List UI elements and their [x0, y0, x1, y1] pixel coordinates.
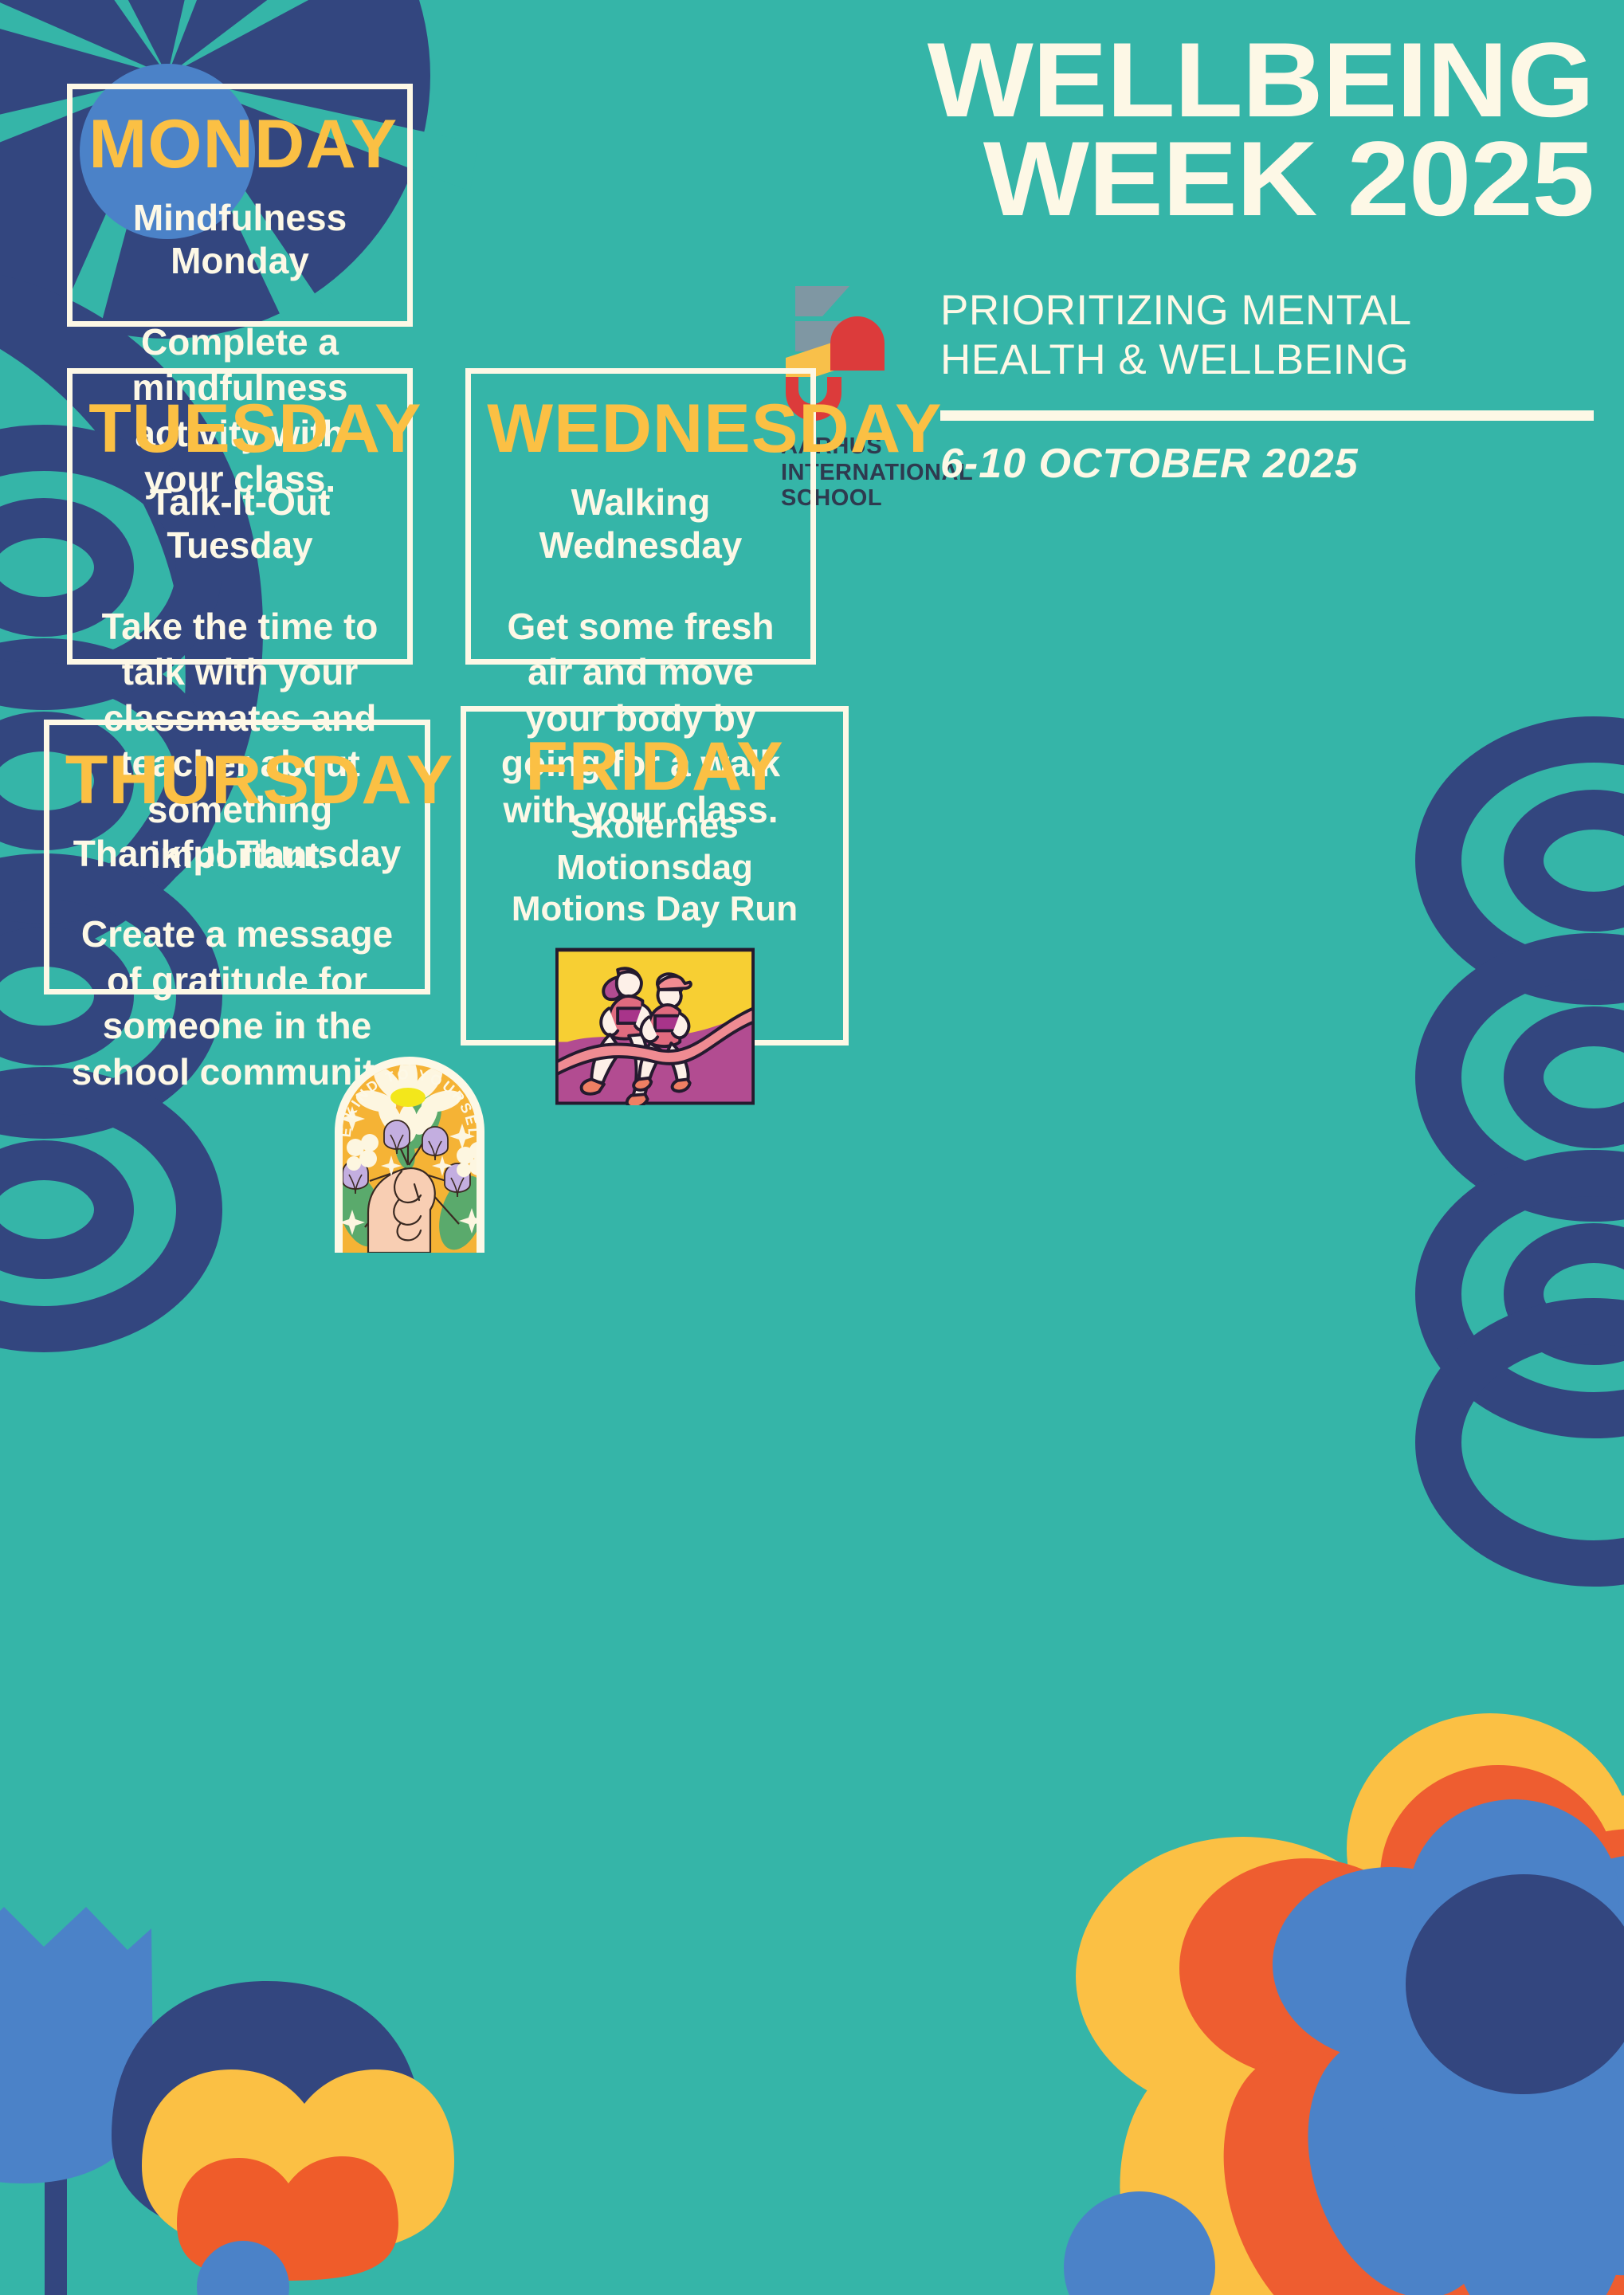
day-title-monday: MONDAY — [88, 110, 390, 178]
runners-illustration — [555, 947, 755, 1105]
be-kind-badge: BE KIND TO YOURSELF — [328, 1044, 490, 1253]
day-subtitle-thursday: Thankful Thursday — [69, 832, 406, 875]
day-subtitle-friday: Skolernes Motionsdag Motions Day Run — [485, 806, 824, 930]
day-title-tuesday: TUESDAY — [88, 394, 390, 463]
poster-tagline: PRIORITIZING MENTAL HEALTH & WELLBEING — [940, 286, 1594, 385]
day-card-wednesday: WEDNESDAY Walking Wednesday Get some fre… — [465, 368, 816, 665]
header-divider — [940, 410, 1594, 421]
page-title: WELLBEING WEEK 2025 — [732, 32, 1594, 229]
day-card-monday: MONDAY Mindfulness Monday Complete a min… — [67, 84, 413, 327]
day-subtitle-wednesday: Walking Wednesday — [490, 481, 791, 567]
poster-dates: 6-10 OCTOBER 2025 — [940, 440, 1594, 488]
day-title-thursday: THURSDAY — [65, 746, 409, 814]
day-card-thursday: THURSDAY Thankful Thursday Create a mess… — [44, 720, 430, 994]
day-title-wednesday: WEDNESDAY — [487, 394, 794, 463]
day-title-friday: FRIDAY — [482, 732, 828, 801]
day-subtitle-tuesday: Talk-It-Out Tuesday — [92, 481, 388, 567]
wellbeing-week-poster: WELLBEING WEEK 2025 AARHUS INTERNATIONAL… — [0, 0, 1624, 2295]
day-card-friday: FRIDAY Skolernes Motionsdag Motions Day … — [461, 706, 849, 1045]
day-card-tuesday: TUESDAY Talk-It-Out Tuesday Take the tim… — [67, 368, 413, 665]
day-subtitle-monday: Mindfulness Monday — [92, 196, 388, 283]
